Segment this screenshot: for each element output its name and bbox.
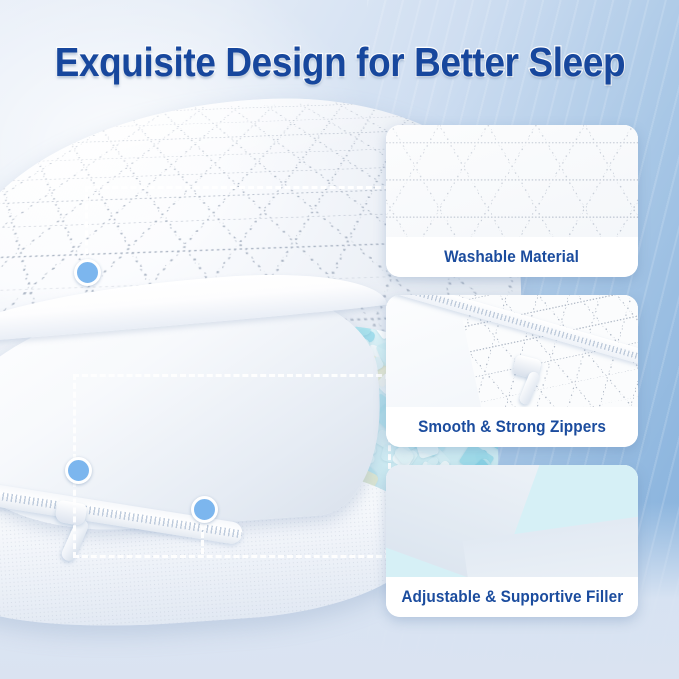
connector-region-box — [73, 374, 391, 558]
marker-dot-smooth-strong-zippers[interactable] — [65, 457, 92, 484]
image-shading — [386, 125, 638, 237]
marker-dot-washable-material[interactable] — [74, 259, 101, 286]
header: Exquisite Design for Better Sleep — [0, 40, 679, 84]
callout-label-text: Smooth & Strong Zippers — [418, 418, 606, 437]
callout-image-smooth-strong-zippers — [386, 295, 638, 407]
callout-label-smooth-strong-zippers: Smooth & Strong Zippers — [386, 407, 638, 447]
honeycomb-fabric-closeup-image — [386, 125, 638, 237]
callout-label-text: Adjustable & Supportive Filler — [401, 588, 623, 607]
shredded-foam-closeup-image — [386, 465, 638, 577]
infographic-canvas: Exquisite Design for Better Sleep — [0, 0, 679, 679]
connector-line-1-horizontal — [85, 186, 390, 189]
callout-image-adjustable-supportive-filler — [386, 465, 638, 577]
callout-card-washable-material[interactable]: Washable Material — [386, 125, 638, 277]
page-title: Exquisite Design for Better Sleep — [54, 40, 624, 84]
callout-label-washable-material: Washable Material — [386, 237, 638, 277]
zipper-closeup-image — [386, 295, 638, 407]
marker-dot-adjustable-supportive-filler[interactable] — [191, 496, 218, 523]
callout-image-washable-material — [386, 125, 638, 237]
callout-label-text: Washable Material — [445, 248, 580, 267]
callout-card-smooth-strong-zippers[interactable]: Smooth & Strong Zippers — [386, 295, 638, 447]
callout-card-adjustable-supportive-filler[interactable]: Adjustable & Supportive Filler — [386, 465, 638, 617]
callout-label-adjustable-supportive-filler: Adjustable & Supportive Filler — [386, 577, 638, 617]
